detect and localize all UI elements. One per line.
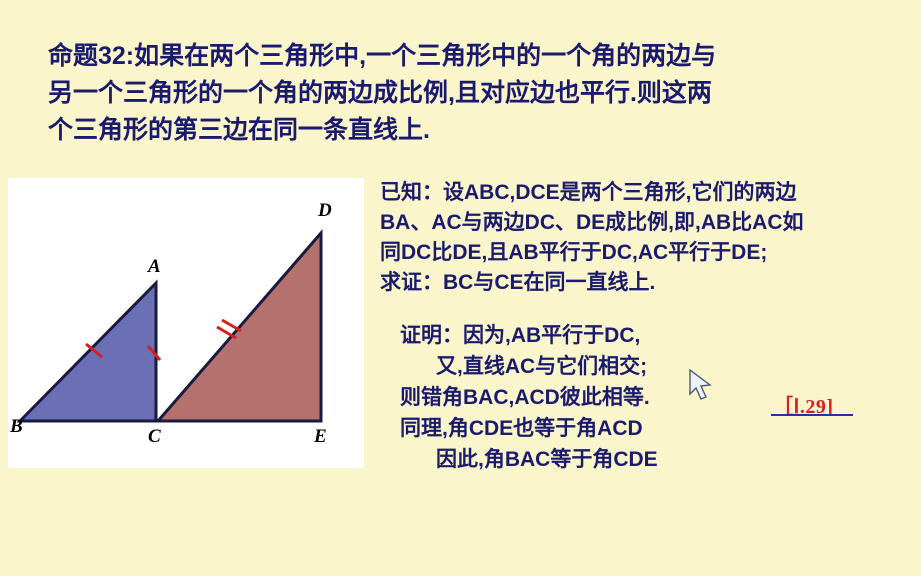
given-line-2: BA、AC与两边DC、DE成比例,即,AB比AC如 bbox=[380, 208, 910, 238]
title-line-2: 另一个三角形的一个角的两边成比例,且对应边也平行.则这两 bbox=[48, 75, 888, 112]
page-title: 命题32:如果在两个三角形中,一个三角形中的一个角的两边与 另一个三角形的一个角… bbox=[48, 38, 888, 149]
reference-underline bbox=[771, 414, 853, 416]
given-line-4: 求证：BC与CE在同一直线上. bbox=[380, 268, 910, 298]
proof-line-3: 则错角BAC,ACD彼此相等. bbox=[400, 382, 920, 413]
geometry-svg bbox=[8, 178, 364, 468]
slide-canvas: 命题32:如果在两个三角形中,一个三角形中的一个角的两边与 另一个三角形的一个角… bbox=[0, 0, 921, 576]
triangle-dce bbox=[158, 233, 321, 421]
triangle-abc bbox=[20, 283, 156, 421]
given-line-3: 同DC比DE,且AB平行于DC,AC平行于DE; bbox=[380, 238, 910, 268]
proof-statement: 证明：因为,AB平行于DC, 又,直线AC与它们相交; 则错角BAC,ACD彼此… bbox=[400, 320, 920, 475]
proof-line-1: 证明：因为,AB平行于DC, bbox=[400, 320, 920, 351]
proof-line-5: 因此,角BAC等于角CDE bbox=[400, 444, 920, 475]
given-line-1: 已知：设ABC,DCE是两个三角形,它们的两边 bbox=[380, 178, 910, 208]
vertex-label-c: C bbox=[148, 426, 161, 448]
vertex-label-a: A bbox=[148, 256, 161, 278]
proof-line-4: 同理,角CDE也等于角ACD bbox=[400, 413, 920, 444]
tick-mark-dc-2 bbox=[222, 320, 241, 331]
given-statement: 已知：设ABC,DCE是两个三角形,它们的两边 BA、AC与两边DC、DE成比例… bbox=[380, 178, 910, 298]
cursor-arrow-icon bbox=[688, 368, 714, 402]
vertex-label-b: B bbox=[10, 416, 23, 438]
proof-line-2: 又,直线AC与它们相交; bbox=[400, 351, 920, 382]
geometry-figure: A B C D E bbox=[8, 178, 364, 468]
vertex-label-d: D bbox=[318, 200, 332, 222]
vertex-label-e: E bbox=[314, 426, 327, 448]
title-line-1: 命题32:如果在两个三角形中,一个三角形中的一个角的两边与 bbox=[48, 38, 888, 75]
title-line-3: 个三角形的第三边在同一条直线上. bbox=[48, 112, 888, 149]
